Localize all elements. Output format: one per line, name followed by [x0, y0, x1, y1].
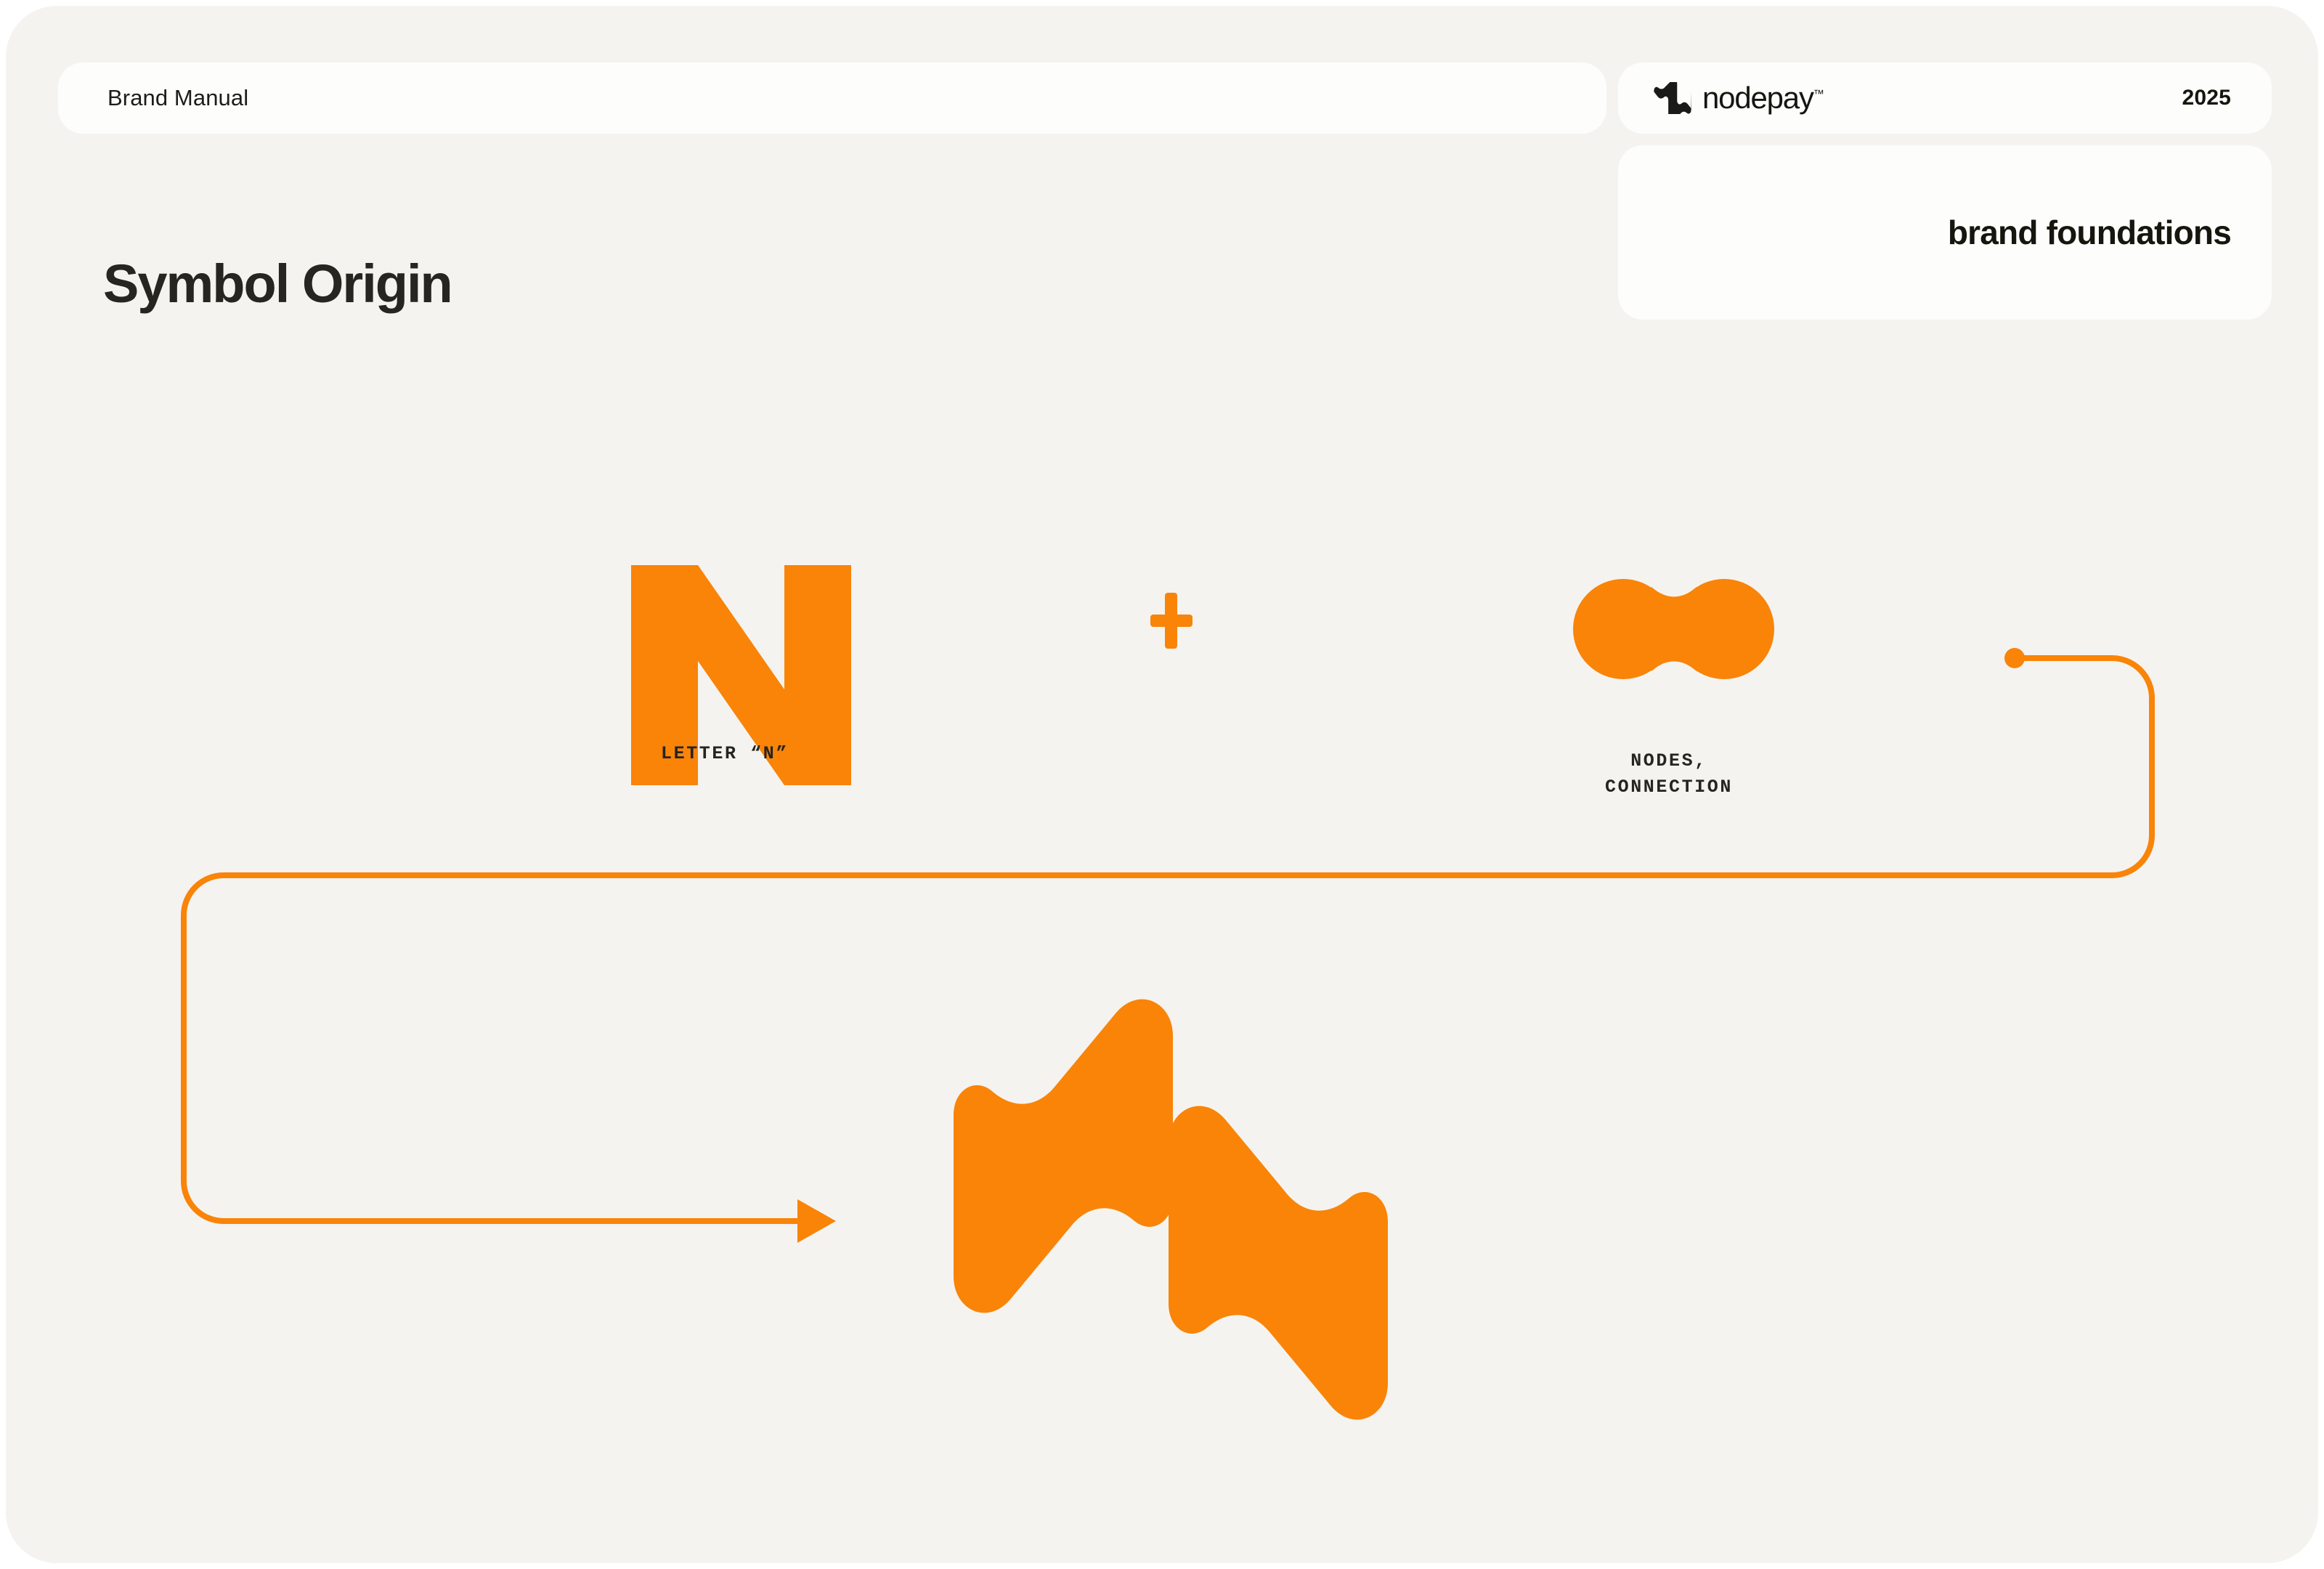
letter-n-label: LETTER “N” [558, 741, 892, 767]
page-sheet: Brand Manual nodepay™ 2025 brand foundat… [6, 6, 2318, 1563]
plus-operator-icon [1150, 593, 1193, 649]
two-nodes-connection-icon [1573, 579, 1774, 679]
nodepay-symbol-icon [954, 1000, 1388, 1420]
symbol-origin-diagram [6, 6, 2318, 1563]
nodes-connection-label: NODES, CONNECTION [1502, 748, 1836, 800]
